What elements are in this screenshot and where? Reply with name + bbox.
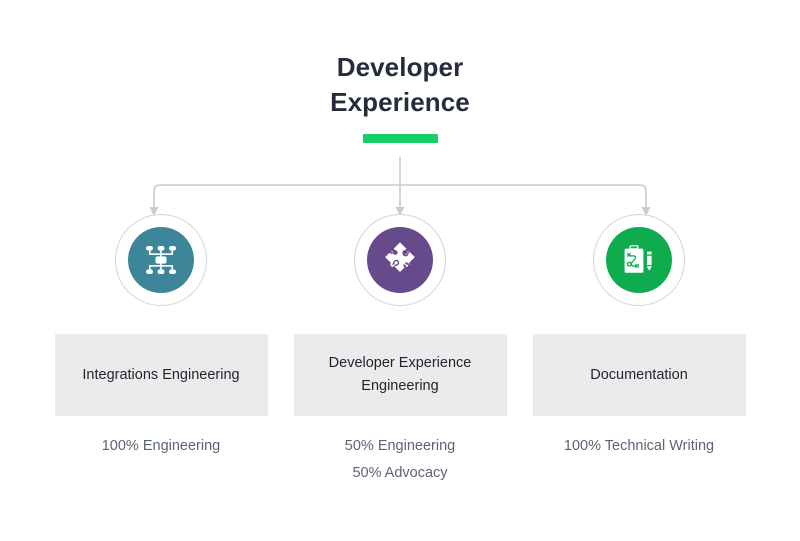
page-title: Developer Experience xyxy=(0,50,800,120)
label-box-developer-experience-engineering[interactable]: Developer Experience Engineering xyxy=(294,334,507,416)
label-cell: Developer Experience Engineering xyxy=(281,334,520,416)
node-documentation[interactable] xyxy=(520,214,759,306)
node-developer-experience-engineering[interactable] xyxy=(281,214,520,306)
node-icon-circle xyxy=(606,227,672,293)
caption-integrations-engineering: 100% Engineering xyxy=(102,438,221,454)
caption-developer-experience-engineering: 50% Engineering 50% Advocacy xyxy=(345,438,455,481)
node-ring xyxy=(593,214,685,306)
label-text: Developer Experience Engineering xyxy=(329,352,472,398)
label-cell: Documentation xyxy=(520,334,759,416)
diagram-header: Developer Experience xyxy=(0,50,800,143)
org-chart-diagram: Developer Experience xyxy=(0,0,800,541)
label-text: Documentation xyxy=(590,364,688,387)
caption-documentation: 100% Technical Writing xyxy=(564,438,714,454)
caption-cell: 100% Technical Writing xyxy=(520,433,759,487)
caption-cell: 50% Engineering 50% Advocacy xyxy=(281,433,520,487)
org-hierarchy-icon xyxy=(144,243,178,277)
label-box-documentation[interactable]: Documentation xyxy=(533,334,746,416)
node-icon-circle xyxy=(128,227,194,293)
label-box-integrations-engineering[interactable]: Integrations Engineering xyxy=(55,334,268,416)
label-cell: Integrations Engineering xyxy=(42,334,281,416)
puzzle-piece-icon xyxy=(382,242,418,278)
caption-cell: 100% Engineering xyxy=(42,433,281,487)
label-box-row: Integrations Engineering Developer Exper… xyxy=(0,334,800,416)
node-integrations-engineering[interactable] xyxy=(42,214,281,306)
clipboard-strategy-icon xyxy=(622,243,656,277)
label-text: Integrations Engineering xyxy=(82,364,239,387)
caption-row: 100% Engineering 50% Engineering 50% Adv… xyxy=(0,433,800,487)
title-accent-bar xyxy=(363,134,438,143)
node-icon-circle xyxy=(367,227,433,293)
node-row xyxy=(0,214,800,306)
node-ring xyxy=(115,214,207,306)
node-ring xyxy=(354,214,446,306)
